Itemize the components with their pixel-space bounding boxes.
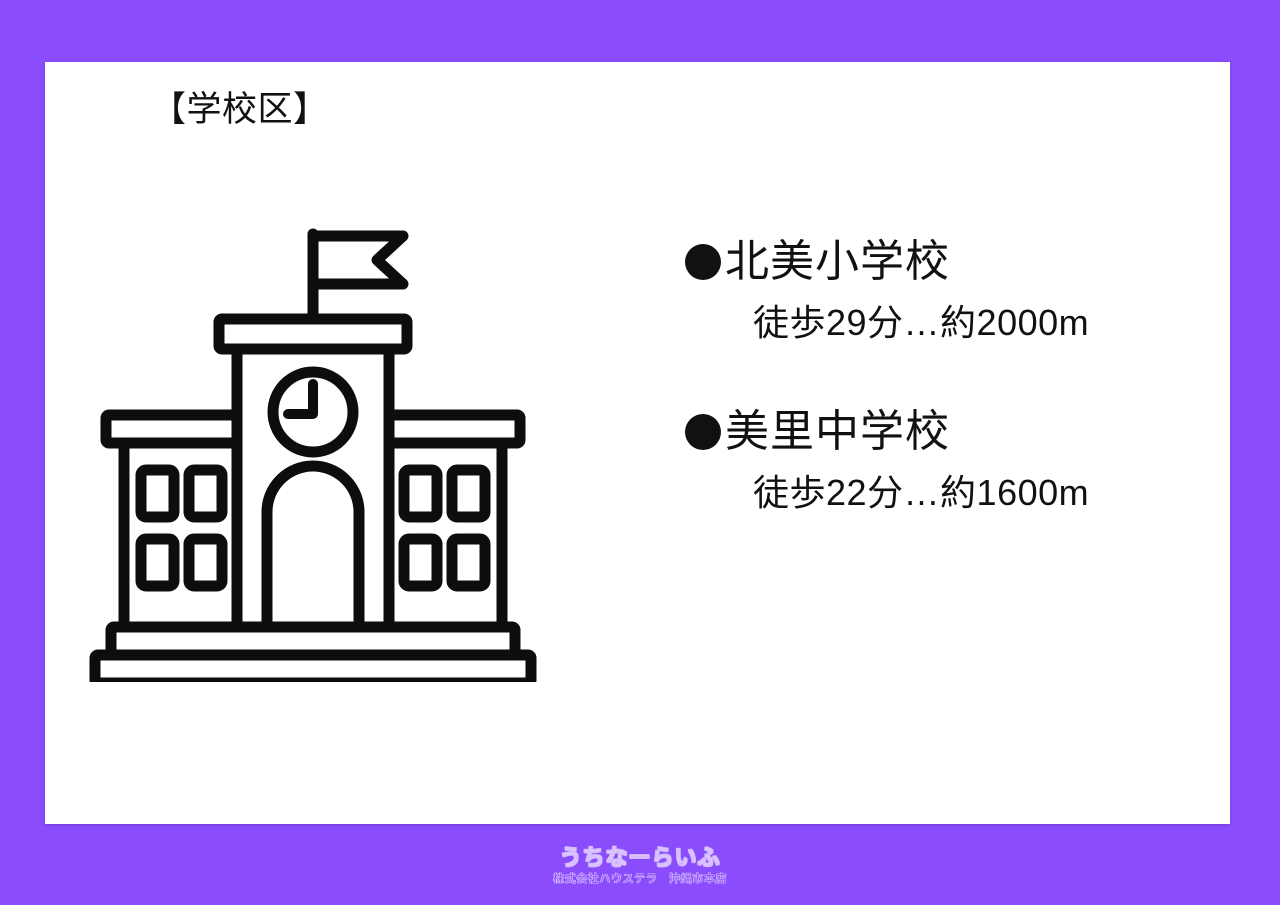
arched-door: [267, 466, 359, 627]
page-title: 【学校区】: [151, 89, 329, 131]
school-distance: 徒歩22分…約1600m: [753, 472, 1185, 513]
clock-hands-icon: [288, 384, 313, 414]
window: [189, 470, 222, 517]
school-name-row: 美里中学校: [685, 407, 1185, 458]
school-list: 北美小学校 徒歩29分…約2000m 美里中学校 徒歩22分…約1600m: [685, 237, 1185, 513]
window: [404, 539, 437, 586]
list-item: 北美小学校 徒歩29分…約2000m: [685, 237, 1185, 343]
bullet-dot-icon: [685, 244, 721, 280]
window: [141, 470, 174, 517]
tower-roof: [219, 319, 407, 349]
brand-logo: うちなーらいふ: [0, 845, 1280, 870]
school-name-row: 北美小学校: [685, 237, 1185, 288]
bullet-dot-icon: [685, 414, 721, 450]
slide-card: 【学校区】: [45, 62, 1230, 824]
window: [452, 539, 485, 586]
window: [404, 470, 437, 517]
window: [452, 470, 485, 517]
school-building-illustration: [85, 212, 555, 682]
list-item: 美里中学校 徒歩22分…約1600m: [685, 407, 1185, 513]
slide-stage: 【学校区】: [0, 0, 1280, 905]
footer-watermark: うちなーらいふ 株式会社ハウステラ 沖縄市本店: [0, 845, 1280, 886]
window: [141, 539, 174, 586]
school-name: 美里中学校: [725, 407, 950, 458]
school-name: 北美小学校: [725, 237, 950, 288]
window: [189, 539, 222, 586]
base-step-lower: [95, 655, 531, 682]
flag-icon: [313, 236, 403, 284]
company-name: 株式会社ハウステラ 沖縄市本店: [0, 873, 1280, 886]
school-distance: 徒歩29分…約2000m: [753, 302, 1185, 343]
